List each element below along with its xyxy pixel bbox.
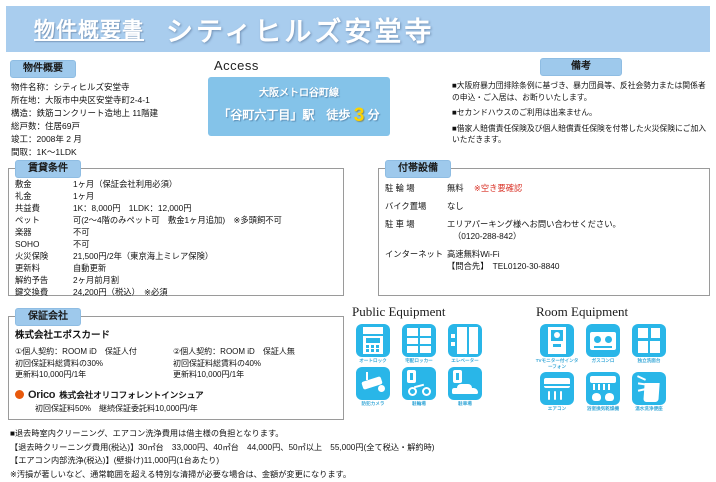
facilities-section: 付帯設備 駐 輪 場 無料 ※空き要確認 バイク置場 なし 駐 車 場 エリアパ… bbox=[378, 168, 710, 296]
equipment-item: 駐車場 bbox=[443, 367, 487, 407]
row-key: 更新料 bbox=[9, 262, 73, 274]
property-summary-sheet: 物件概要書 シティヒルズ安堂寺 物件概要 物件名称：シティヒルズ安堂寺 所在地：… bbox=[0, 0, 716, 480]
row-key: 共益費 bbox=[9, 202, 73, 214]
page-title: シティヒルズ安堂寺 bbox=[166, 10, 434, 49]
row-value: 不可 bbox=[73, 226, 343, 238]
plan-initial-fee: 初回保証料総賃料の40% bbox=[173, 358, 331, 370]
row-key: 駐 輪 場 bbox=[379, 179, 447, 197]
table-row: 楽器不可 bbox=[9, 226, 343, 238]
row-value: 可(2～4階のみペット可 敷金1ヶ月追加) ※多頭飼不可 bbox=[73, 214, 343, 226]
rental-conditions-section: 賃貸条件 敷金1ヶ月（保証会社利用必須） 礼金1ヶ月 共益費1K：8,000円 … bbox=[8, 168, 344, 296]
equipment-label: TVモニター付インターフォン bbox=[535, 358, 579, 369]
row-key: 解約予告 bbox=[9, 274, 73, 286]
row-key: SOHO bbox=[9, 238, 73, 250]
access-line-name: 大阪メトロ谷町線 bbox=[214, 84, 384, 99]
air-conditioner-icon bbox=[540, 372, 574, 405]
row-value: 1ヶ月 bbox=[73, 190, 343, 202]
table-row: 駐 輪 場 無料 ※空き要確認 bbox=[379, 179, 709, 197]
guarantee-company-tab: 保証会社 bbox=[15, 308, 81, 326]
table-row: バイク置場 なし bbox=[379, 197, 709, 215]
equipment-item: 独立洗面台 bbox=[627, 324, 671, 369]
equipment-label: 温水洗浄便座 bbox=[627, 406, 671, 412]
equipment-item: 宅配ロッカー bbox=[397, 324, 441, 364]
table-row: 礼金1ヶ月 bbox=[9, 190, 343, 202]
remark-item: ■借家人賠償責任保険及び個人賠償責任保険を付帯した火災保険にご加入いただきます。 bbox=[452, 123, 710, 146]
equipment-item: 駐輪場 bbox=[397, 367, 441, 407]
overview-row: 竣工：2008年 2 月 bbox=[11, 133, 204, 146]
facility-note: ※空き要確認 bbox=[474, 183, 522, 193]
orico-company-name: 株式会社オリコフォレントインシュア bbox=[59, 389, 203, 401]
rental-conditions-tab: 賃貸条件 bbox=[15, 160, 81, 178]
note-line: ※汚損が著しいなど、通常範囲を超える特別な清掃が必要な場合は、金額が変更になりま… bbox=[10, 469, 710, 482]
equipment-item: ガスコンロ bbox=[581, 324, 625, 369]
water-purifier-icon bbox=[632, 372, 666, 405]
overview-row: 総戸数：住居69戸 bbox=[11, 120, 204, 133]
public-equipment-section: Public Equipment オートロック bbox=[350, 304, 530, 424]
row-value: 不可 bbox=[73, 238, 343, 250]
remark-item: ■セカンドハウスのご利用は出来ません。 bbox=[452, 107, 710, 119]
remarks-tab: 備考 bbox=[540, 58, 622, 76]
auto-lock-icon bbox=[356, 324, 390, 357]
facility-phone: （0120-288-842） bbox=[453, 230, 709, 242]
table-row: 更新料自動更新 bbox=[9, 262, 343, 274]
table-row: 鍵交換費24,200円（税込） ※必須 bbox=[9, 286, 343, 298]
equipment-label: 独立洗面台 bbox=[627, 358, 671, 364]
guarantee-plan: ①個人契約：ROOM iD 保証人付 初回保証料総賃料の30% 更新料10,00… bbox=[15, 346, 173, 381]
facility-value: 高速無料Wi-Fi bbox=[447, 248, 709, 260]
table-row: インターネット 高速無料Wi-Fi 【問合先】 TEL0120-30-8840 bbox=[379, 245, 709, 275]
room-equipment-title: Room Equipment bbox=[536, 304, 712, 320]
equipment-label: 防犯カメラ bbox=[351, 401, 395, 407]
table-row: 共益費1K：8,000円 1LDK：12,000円 bbox=[9, 202, 343, 214]
row-key: 駐 車 場 bbox=[379, 215, 447, 245]
note-line: ■退去時室内クリーニング、エアコン洗浄費用は借主様の負担となります。 bbox=[10, 428, 710, 441]
equipment-item: オートロック bbox=[351, 324, 395, 364]
guarantee-company-section: 保証会社 株式会社エポスカード ①個人契約：ROOM iD 保証人付 初回保証料… bbox=[8, 316, 344, 420]
orico-brand-label: Orico bbox=[28, 389, 55, 401]
row-value: なし bbox=[447, 197, 709, 215]
row-key: 礼金 bbox=[9, 190, 73, 202]
note-line: 【エアコン内部洗浄(税込)】(壁掛け)11,000円(1台あたり) bbox=[10, 455, 710, 468]
plan-renewal-fee: 更新料10,000円/1年 bbox=[173, 369, 331, 381]
facility-contact: 【問合先】 TEL0120-30-8840 bbox=[447, 260, 709, 272]
remarks-section: 備考 ■大阪府暴力団排除条例に基づき、暴力団員等、反社会勢力または関係者の申込・… bbox=[452, 58, 710, 150]
page-header: 物件概要書 シティヒルズ安堂寺 bbox=[6, 6, 710, 52]
equipment-label: ガスコンロ bbox=[581, 358, 625, 364]
access-title: Access bbox=[214, 58, 390, 73]
row-value: 2ヶ月前月割 bbox=[73, 274, 343, 286]
tv-intercom-icon bbox=[540, 324, 574, 357]
property-overview-tab: 物件概要 bbox=[10, 60, 76, 78]
access-section: Access 大阪メトロ谷町線 「谷町六丁目」駅 徒歩 3 分 bbox=[208, 58, 390, 136]
table-row: 火災保険21,500円/2年（東京海上ミレア保険） bbox=[9, 250, 343, 262]
table-row: 敷金1ヶ月（保証会社利用必須） bbox=[9, 178, 343, 190]
row-key: 敷金 bbox=[9, 178, 73, 190]
row-key: 火災保険 bbox=[9, 250, 73, 262]
equipment-item: 温水洗浄便座 bbox=[627, 372, 671, 412]
equipment-item: エアコン bbox=[535, 372, 579, 412]
row-value: 1ヶ月（保証会社利用必須） bbox=[73, 178, 343, 190]
equipment-item: 防犯カメラ bbox=[351, 367, 395, 407]
bath-dryer-icon bbox=[586, 372, 620, 405]
washstand-icon bbox=[632, 324, 666, 357]
table-row: 駐 車 場 エリアパーキング様へお問い合わせください。 （0120-288-84… bbox=[379, 215, 709, 245]
row-value: 高速無料Wi-Fi 【問合先】 TEL0120-30-8840 bbox=[447, 245, 709, 275]
plan-title: ②個人契約：ROOM iD 保証人無 bbox=[173, 346, 331, 358]
equipment-label: エアコン bbox=[535, 406, 579, 412]
table-row: 解約予告2ヶ月前月割 bbox=[9, 274, 343, 286]
delivery-locker-icon bbox=[402, 324, 436, 357]
plan-title: ①個人契約：ROOM iD 保証人付 bbox=[15, 346, 173, 358]
row-key: バイク置場 bbox=[379, 197, 447, 215]
public-equipment-grid: オートロック 宅配ロッカー エレベーター bbox=[350, 324, 530, 409]
row-value: 24,200円（税込） ※必須 bbox=[73, 286, 343, 298]
equipment-label: 駐輪場 bbox=[397, 401, 441, 407]
guarantee-plan-columns: ①個人契約：ROOM iD 保証人付 初回保証料総賃料の30% 更新料10,00… bbox=[15, 346, 343, 381]
facilities-tab: 付帯設備 bbox=[385, 160, 451, 178]
note-line: 【退去時クリーニング費用(税込)】30㎡台 33,000円、40㎡台 44,00… bbox=[10, 442, 710, 455]
table-row: ペット可(2～4階のみペット可 敷金1ヶ月追加) ※多頭飼不可 bbox=[9, 214, 343, 226]
orico-fee-note: 初回保証料50% 継続保証委託料10,000円/年 bbox=[35, 403, 343, 414]
facility-value: 無料 bbox=[447, 183, 464, 193]
gas-stove-icon bbox=[586, 324, 620, 357]
access-box: 大阪メトロ谷町線 「谷町六丁目」駅 徒歩 3 分 bbox=[208, 77, 390, 136]
overview-row: 所在地：大阪市中央区安堂寺町2-4-1 bbox=[11, 94, 204, 107]
row-key: インターネット bbox=[379, 245, 447, 275]
facility-value: エリアパーキング様へお問い合わせください。 bbox=[447, 218, 709, 230]
equipment-label: 宅配ロッカー bbox=[397, 358, 441, 364]
equipment-item: エレベーター bbox=[443, 324, 487, 364]
orico-logo-row: Orico 株式会社オリコフォレントインシュア bbox=[15, 389, 343, 401]
plan-renewal-fee: 更新料10,000円/1年 bbox=[15, 369, 173, 381]
orico-dot-icon bbox=[15, 390, 24, 399]
row-key: 鍵交換費 bbox=[9, 286, 73, 298]
equipment-label: 浴室換気乾燥機 bbox=[581, 406, 625, 412]
overview-row: 構造：鉄筋コンクリート造地上 11階建 bbox=[11, 107, 204, 120]
rental-conditions-table: 敷金1ヶ月（保証会社利用必須） 礼金1ヶ月 共益費1K：8,000円 1LDK：… bbox=[9, 178, 343, 298]
row-value: 1K：8,000円 1LDK：12,000円 bbox=[73, 202, 343, 214]
remark-item: ■大阪府暴力団排除条例に基づき、暴力団員等、反社会勢力または関係者の申込・ご入居… bbox=[452, 80, 710, 103]
property-overview-section: 物件概要 物件名称：シティヒルズ安堂寺 所在地：大阪市中央区安堂寺町2-4-1 … bbox=[8, 58, 204, 159]
row-key: ペット bbox=[9, 214, 73, 226]
public-equipment-title: Public Equipment bbox=[352, 304, 530, 320]
access-walk-minutes: 3 bbox=[354, 105, 365, 126]
car-parking-icon bbox=[448, 367, 482, 400]
equipment-label: 駐車場 bbox=[443, 401, 487, 407]
facilities-table: 駐 輪 場 無料 ※空き要確認 バイク置場 なし 駐 車 場 エリアパーキング様… bbox=[379, 179, 709, 275]
document-type-label: 物件概要書 bbox=[34, 14, 144, 44]
access-station-walk: 「谷町六丁目」駅 徒歩 3 分 bbox=[214, 105, 384, 127]
room-equipment-section: Room Equipment TVモニター付インターフォン ガス bbox=[534, 304, 712, 424]
property-overview-list: 物件名称：シティヒルズ安堂寺 所在地：大阪市中央区安堂寺町2-4-1 構造：鉄筋… bbox=[8, 81, 204, 159]
bicycle-parking-icon bbox=[402, 367, 436, 400]
guarantee-plan: ②個人契約：ROOM iD 保証人無 初回保証料総賃料の40% 更新料10,00… bbox=[173, 346, 331, 381]
overview-row: 間取：1K～1LDK bbox=[11, 146, 204, 159]
remarks-list: ■大阪府暴力団排除条例に基づき、暴力団員等、反社会勢力または関係者の申込・ご入居… bbox=[452, 80, 710, 146]
elevator-icon bbox=[448, 324, 482, 357]
row-value: 21,500円/2年（東京海上ミレア保険） bbox=[73, 250, 343, 262]
equipment-item: 浴室換気乾燥機 bbox=[581, 372, 625, 412]
equipment-item: TVモニター付インターフォン bbox=[535, 324, 579, 369]
equipment-label: エレベーター bbox=[443, 358, 487, 364]
plan-initial-fee: 初回保証料総賃料の30% bbox=[15, 358, 173, 370]
bottom-notes: ■退去時室内クリーニング、エアコン洗浄費用は借主様の負担となります。 【退去時ク… bbox=[10, 428, 710, 482]
security-camera-icon bbox=[356, 367, 390, 400]
row-value: 無料 ※空き要確認 bbox=[447, 179, 709, 197]
equipment-label: オートロック bbox=[351, 358, 395, 364]
access-station-label: 「谷町六丁目」駅 徒歩 bbox=[218, 108, 350, 122]
access-minutes-unit: 分 bbox=[368, 108, 380, 122]
table-row: SOHO不可 bbox=[9, 238, 343, 250]
guarantee-company-name: 株式会社エポスカード bbox=[15, 327, 343, 341]
row-key: 楽器 bbox=[9, 226, 73, 238]
row-value: 自動更新 bbox=[73, 262, 343, 274]
row-value: エリアパーキング様へお問い合わせください。 （0120-288-842） bbox=[447, 215, 709, 245]
overview-row: 物件名称：シティヒルズ安堂寺 bbox=[11, 81, 204, 94]
room-equipment-grid: TVモニター付インターフォン ガスコンロ 独立洗面台 bbox=[534, 324, 712, 415]
